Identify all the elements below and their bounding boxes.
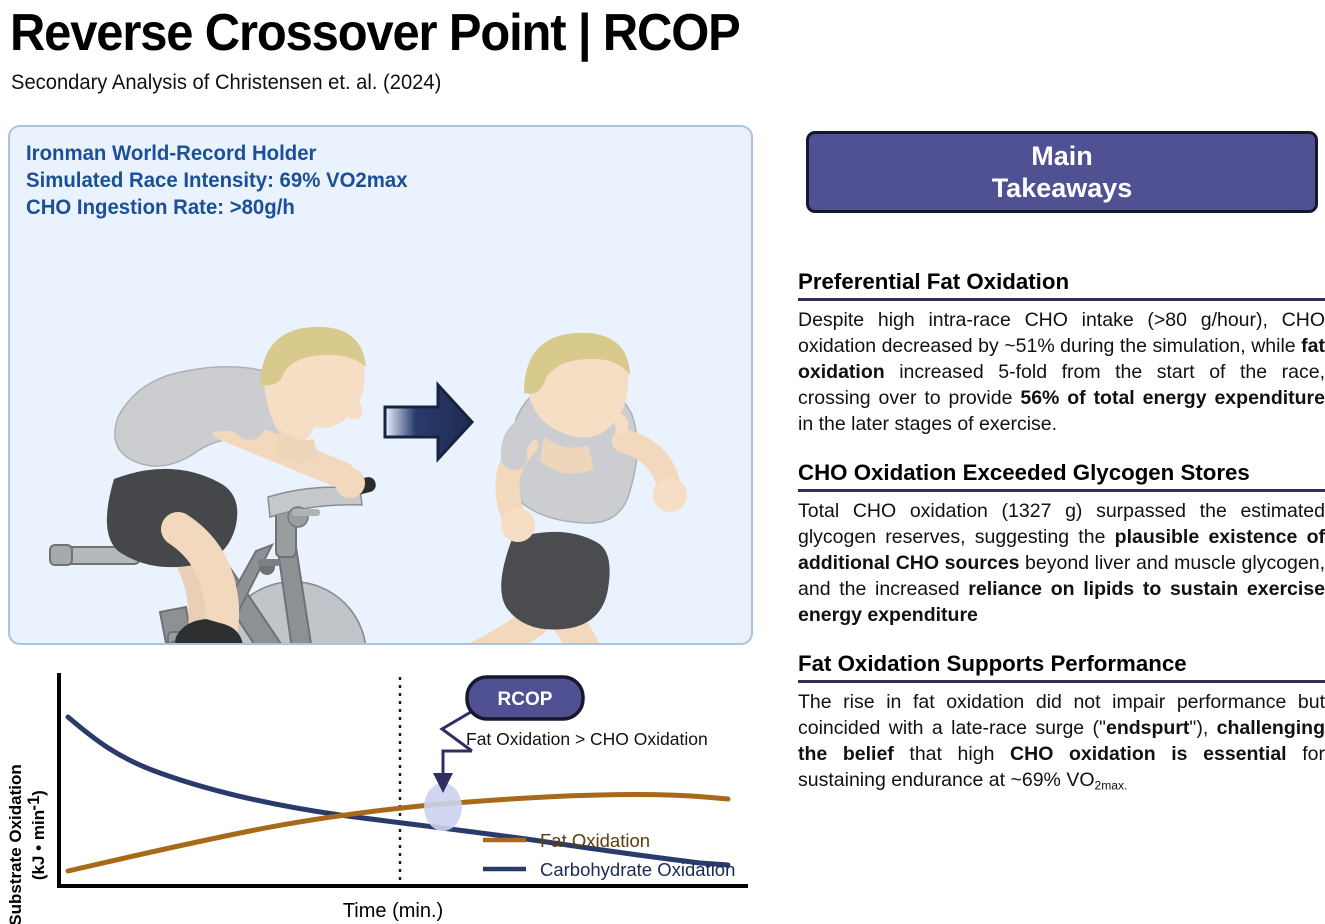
takeaway-item: Preferential Fat Oxidation Despite high … bbox=[798, 268, 1325, 437]
legend-label-fat: Fat Oxidation bbox=[540, 830, 650, 851]
takeaways-list: Preferential Fat Oxidation Despite high … bbox=[798, 268, 1325, 820]
takeaway-title: Fat Oxidation Supports Performance bbox=[798, 650, 1320, 677]
main-takeaways-header: Main Takeaways bbox=[806, 131, 1318, 213]
svg-text:(kJ • min: (kJ • min bbox=[29, 810, 48, 880]
illustration-panel: Ironman World-Record Holder Simulated Ra… bbox=[8, 125, 753, 645]
takeaway-body: The rise in fat oxidation did not impair… bbox=[798, 689, 1325, 798]
svg-text:Substrate Oxidation: Substrate Oxidation bbox=[6, 764, 25, 924]
right-arrow-icon bbox=[385, 385, 472, 459]
rcop-callout-arrow bbox=[433, 709, 476, 793]
takeaway-body: Despite high intra-race CHO intake (>80 … bbox=[798, 307, 1325, 437]
takeaway-title: Preferential Fat Oxidation bbox=[798, 268, 1320, 295]
takeaways-header-line1: Main bbox=[1031, 140, 1093, 172]
substrate-oxidation-chart: Substrate Oxidation (kJ • min -1 ) RCOP bbox=[0, 655, 760, 924]
takeaway-divider bbox=[798, 489, 1325, 492]
chart-y-axis-label: Substrate Oxidation (kJ • min -1 ) bbox=[6, 764, 48, 924]
svg-text:-1: -1 bbox=[24, 795, 43, 810]
takeaway-item: Fat Oxidation Supports Performance The r… bbox=[798, 650, 1325, 798]
takeaway-body: Total CHO oxidation (1327 g) surpassed t… bbox=[798, 498, 1325, 628]
takeaway-divider bbox=[798, 298, 1325, 301]
rcop-note: Fat Oxidation > CHO Oxidation bbox=[466, 729, 708, 749]
rcop-badge[interactable]: RCOP bbox=[467, 677, 583, 719]
legend-label-cho: Carbohydrate Oxidation bbox=[540, 859, 735, 880]
svg-text:RCOP: RCOP bbox=[498, 689, 553, 710]
takeaway-item: CHO Oxidation Exceeded Glycogen Stores T… bbox=[798, 459, 1325, 628]
athlete-illustration bbox=[10, 127, 753, 645]
page-title: Reverse Crossover Point | RCOP bbox=[10, 2, 740, 64]
cyclist-figure bbox=[50, 327, 377, 645]
svg-text:): ) bbox=[29, 790, 48, 796]
page-subtitle: Secondary Analysis of Christensen et. al… bbox=[11, 70, 441, 96]
takeaway-divider bbox=[798, 680, 1325, 683]
takeaways-header-line2: Takeaways bbox=[992, 172, 1133, 204]
runner-figure bbox=[408, 333, 687, 645]
takeaway-title: CHO Oxidation Exceeded Glycogen Stores bbox=[798, 459, 1320, 486]
chart-x-axis-label: Time (min.) bbox=[343, 900, 443, 922]
